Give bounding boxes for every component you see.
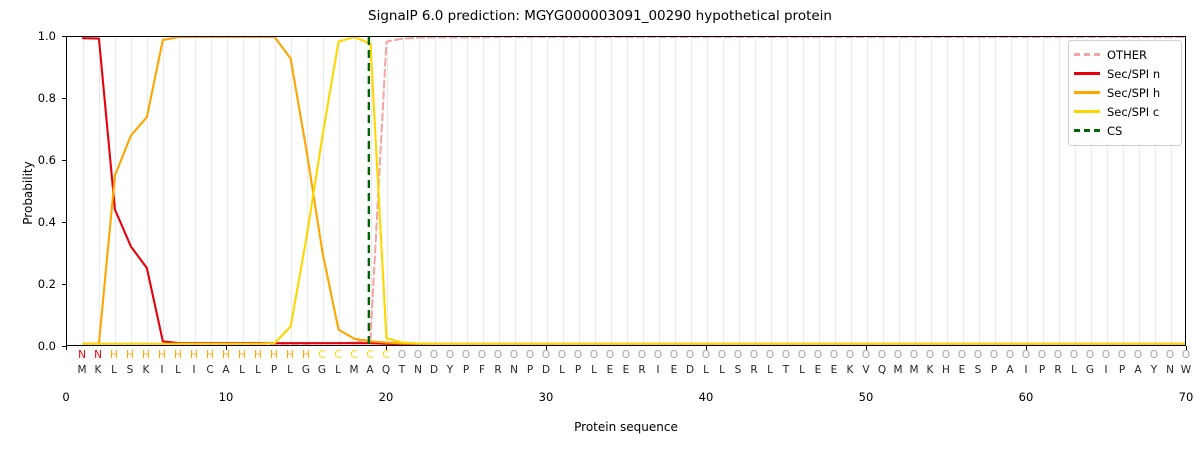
region-label: O — [1086, 348, 1094, 362]
region-label: H — [206, 348, 214, 362]
region-label: O — [1118, 348, 1126, 362]
residue-label: E — [607, 363, 614, 377]
legend-label: Sec/SPI n — [1107, 67, 1160, 81]
residue-label: I — [656, 363, 659, 377]
residue-label: L — [111, 363, 117, 377]
region-label: O — [574, 348, 582, 362]
region-label: O — [1038, 348, 1046, 362]
residue-label: Y — [1151, 363, 1157, 377]
residue-label: M — [349, 363, 358, 377]
residue-label: R — [1054, 363, 1061, 377]
residue-label: G — [318, 363, 326, 377]
region-label: O — [766, 348, 774, 362]
y-tick-label: 0.4 — [38, 215, 56, 229]
residue-label: N — [414, 363, 422, 377]
x-tick-label: 60 — [1019, 390, 1034, 404]
region-label: O — [430, 348, 438, 362]
region-label: O — [670, 348, 678, 362]
region-label: O — [846, 348, 854, 362]
x-tick-label: 20 — [379, 390, 394, 404]
residue-label: N — [510, 363, 518, 377]
residue-label: E — [831, 363, 838, 377]
residue-label: L — [767, 363, 773, 377]
region-label: O — [798, 348, 806, 362]
region-label: O — [398, 348, 406, 362]
region-label: O — [910, 348, 918, 362]
legend-label: Sec/SPI c — [1107, 105, 1159, 119]
region-label: H — [110, 348, 118, 362]
residue-label: L — [255, 363, 261, 377]
region-label: H — [158, 348, 166, 362]
residue-label: Q — [878, 363, 886, 377]
region-label: O — [718, 348, 726, 362]
residue-label: P — [1039, 363, 1045, 377]
legend-item: CS — [1074, 121, 1176, 140]
region-label: O — [526, 348, 534, 362]
y-tick-label: 0.2 — [38, 277, 56, 291]
region-label: H — [222, 348, 230, 362]
residue-label: S — [975, 363, 982, 377]
legend-item: Sec/SPI c — [1074, 102, 1176, 121]
residue-label: L — [239, 363, 245, 377]
figure-title: SignalP 6.0 prediction: MGYG000003091_00… — [0, 8, 1200, 24]
y-tick-label: 0.8 — [38, 91, 56, 105]
y-tick-label: 0.6 — [38, 153, 56, 167]
region-label: O — [990, 348, 998, 362]
region-label: O — [782, 348, 790, 362]
x-tick-label: 0 — [62, 390, 69, 404]
legend: OTHERSec/SPI nSec/SPI hSec/SPI cCS — [1068, 40, 1182, 146]
region-label: O — [622, 348, 630, 362]
residue-label: P — [527, 363, 533, 377]
region-label: H — [286, 348, 294, 362]
region-label: O — [702, 348, 710, 362]
residue-label: D — [430, 363, 438, 377]
residue-label: G — [1086, 363, 1094, 377]
legend-swatch — [1074, 87, 1100, 98]
region-label: O — [494, 348, 502, 362]
region-label: C — [318, 348, 325, 362]
region-label: O — [750, 348, 758, 362]
residue-label: M — [893, 363, 902, 377]
residue-label: D — [542, 363, 550, 377]
region-label: C — [366, 348, 373, 362]
region-label: O — [606, 348, 614, 362]
region-label: C — [334, 348, 341, 362]
residue-label: W — [1181, 363, 1191, 377]
region-label: O — [1150, 348, 1158, 362]
legend-label: Sec/SPI h — [1107, 86, 1160, 100]
series-line-sec-spi-n — [83, 38, 1185, 344]
residue-label: L — [175, 363, 181, 377]
residue-label: C — [206, 363, 213, 377]
region-label: H — [190, 348, 198, 362]
residue-label: L — [287, 363, 293, 377]
region-label: O — [654, 348, 662, 362]
residue-label: V — [862, 363, 869, 377]
residue-label: H — [942, 363, 950, 377]
region-label: H — [254, 348, 262, 362]
region-label: O — [814, 348, 822, 362]
x-axis-title: Protein sequence — [66, 420, 1186, 434]
region-label: O — [926, 348, 934, 362]
region-label: H — [302, 348, 310, 362]
region-label: O — [686, 348, 694, 362]
legend-swatch — [1074, 49, 1100, 60]
residue-label: K — [95, 363, 102, 377]
region-label: O — [1182, 348, 1190, 362]
x-tick-label: 40 — [699, 390, 714, 404]
region-label: O — [1070, 348, 1078, 362]
region-label: O — [1102, 348, 1110, 362]
plot-area — [66, 36, 1186, 346]
residue-label: Y — [447, 363, 453, 377]
region-label: O — [878, 348, 886, 362]
residue-label: I — [160, 363, 163, 377]
legend-label: CS — [1107, 124, 1122, 138]
region-label: O — [590, 348, 598, 362]
residue-label: P — [991, 363, 997, 377]
region-label: H — [238, 348, 246, 362]
signalp-plot-figure: SignalP 6.0 prediction: MGYG000003091_00… — [0, 0, 1200, 450]
legend-item: Sec/SPI h — [1074, 83, 1176, 102]
residue-label: T — [399, 363, 405, 377]
residue-label: S — [735, 363, 742, 377]
region-annotation-row: NNHHHHHHHHHHHHHCCCCCOOOOOOOOOOOOOOOOOOOO… — [66, 348, 1186, 362]
residue-label: A — [366, 363, 373, 377]
residue-label: S — [127, 363, 134, 377]
residue-label: L — [719, 363, 725, 377]
residue-label: D — [686, 363, 694, 377]
residue-label: E — [815, 363, 822, 377]
x-tick-label: 70 — [1179, 390, 1194, 404]
residue-label: I — [192, 363, 195, 377]
region-label: O — [1006, 348, 1014, 362]
residue-label: Q — [382, 363, 390, 377]
region-label: O — [1054, 348, 1062, 362]
residue-label: K — [847, 363, 854, 377]
residue-label: L — [703, 363, 709, 377]
region-label: C — [350, 348, 357, 362]
region-label: N — [94, 348, 102, 362]
region-label: O — [478, 348, 486, 362]
residue-label: A — [1134, 363, 1141, 377]
legend-swatch — [1074, 68, 1100, 79]
residue-label: N — [1166, 363, 1174, 377]
residue-label: I — [1104, 363, 1107, 377]
residue-label: M — [77, 363, 86, 377]
residue-label: P — [575, 363, 581, 377]
region-label: O — [734, 348, 742, 362]
x-tick-label: 50 — [859, 390, 874, 404]
residue-label: A — [1006, 363, 1013, 377]
region-label: H — [142, 348, 150, 362]
residue-label: G — [302, 363, 310, 377]
y-axis-title: Probability — [21, 43, 35, 343]
x-tick-label: 30 — [539, 390, 554, 404]
region-label: O — [958, 348, 966, 362]
region-label: O — [414, 348, 422, 362]
region-label: O — [638, 348, 646, 362]
region-label: O — [542, 348, 550, 362]
series-line-other — [83, 37, 1185, 344]
residue-label: E — [623, 363, 630, 377]
residue-label: P — [271, 363, 277, 377]
region-label: H — [126, 348, 134, 362]
residue-label: P — [1119, 363, 1125, 377]
series-line-sec-spi-h — [83, 37, 1185, 344]
residue-label: L — [1071, 363, 1077, 377]
region-label: O — [862, 348, 870, 362]
region-label: O — [1134, 348, 1142, 362]
region-label: N — [78, 348, 86, 362]
region-label: O — [510, 348, 518, 362]
residue-label: R — [750, 363, 757, 377]
legend-swatch — [1074, 125, 1100, 136]
y-axis: Probability 0.00.20.40.60.81.0 — [0, 36, 66, 346]
residue-label: L — [559, 363, 565, 377]
legend-item: Sec/SPI n — [1074, 64, 1176, 83]
region-label: O — [1166, 348, 1174, 362]
legend-swatch — [1074, 106, 1100, 117]
residue-label: K — [143, 363, 150, 377]
residue-label: R — [494, 363, 501, 377]
series-line-sec-spi-c — [83, 37, 1185, 344]
legend-label: OTHER — [1107, 48, 1147, 62]
region-label: O — [462, 348, 470, 362]
residue-label: R — [638, 363, 645, 377]
residue-label: E — [671, 363, 678, 377]
residue-label: E — [959, 363, 966, 377]
legend-item: OTHER — [1074, 45, 1176, 64]
region-label: H — [270, 348, 278, 362]
residue-label: I — [1024, 363, 1027, 377]
residue-label: T — [783, 363, 789, 377]
residue-label: K — [927, 363, 934, 377]
residue-label: P — [463, 363, 469, 377]
residue-label: L — [335, 363, 341, 377]
region-label: O — [894, 348, 902, 362]
residue-label: M — [909, 363, 918, 377]
region-label: O — [942, 348, 950, 362]
x-tick-label: 10 — [219, 390, 234, 404]
region-label: O — [1022, 348, 1030, 362]
residue-label: L — [799, 363, 805, 377]
region-label: O — [830, 348, 838, 362]
residue-label: L — [591, 363, 597, 377]
y-tick-label: 1.0 — [38, 29, 56, 43]
region-label: O — [974, 348, 982, 362]
region-label: C — [382, 348, 389, 362]
residue-label: A — [222, 363, 229, 377]
region-label: O — [446, 348, 454, 362]
residue-label: F — [479, 363, 485, 377]
curves-layer — [67, 37, 1185, 345]
y-tick-label: 0.0 — [38, 339, 56, 353]
region-label: H — [174, 348, 182, 362]
region-label: O — [558, 348, 566, 362]
sequence-annotation-row: MKLSKILICALLPLGGLMAQTNDYPFRNPDLPLEERIEDL… — [66, 363, 1186, 377]
